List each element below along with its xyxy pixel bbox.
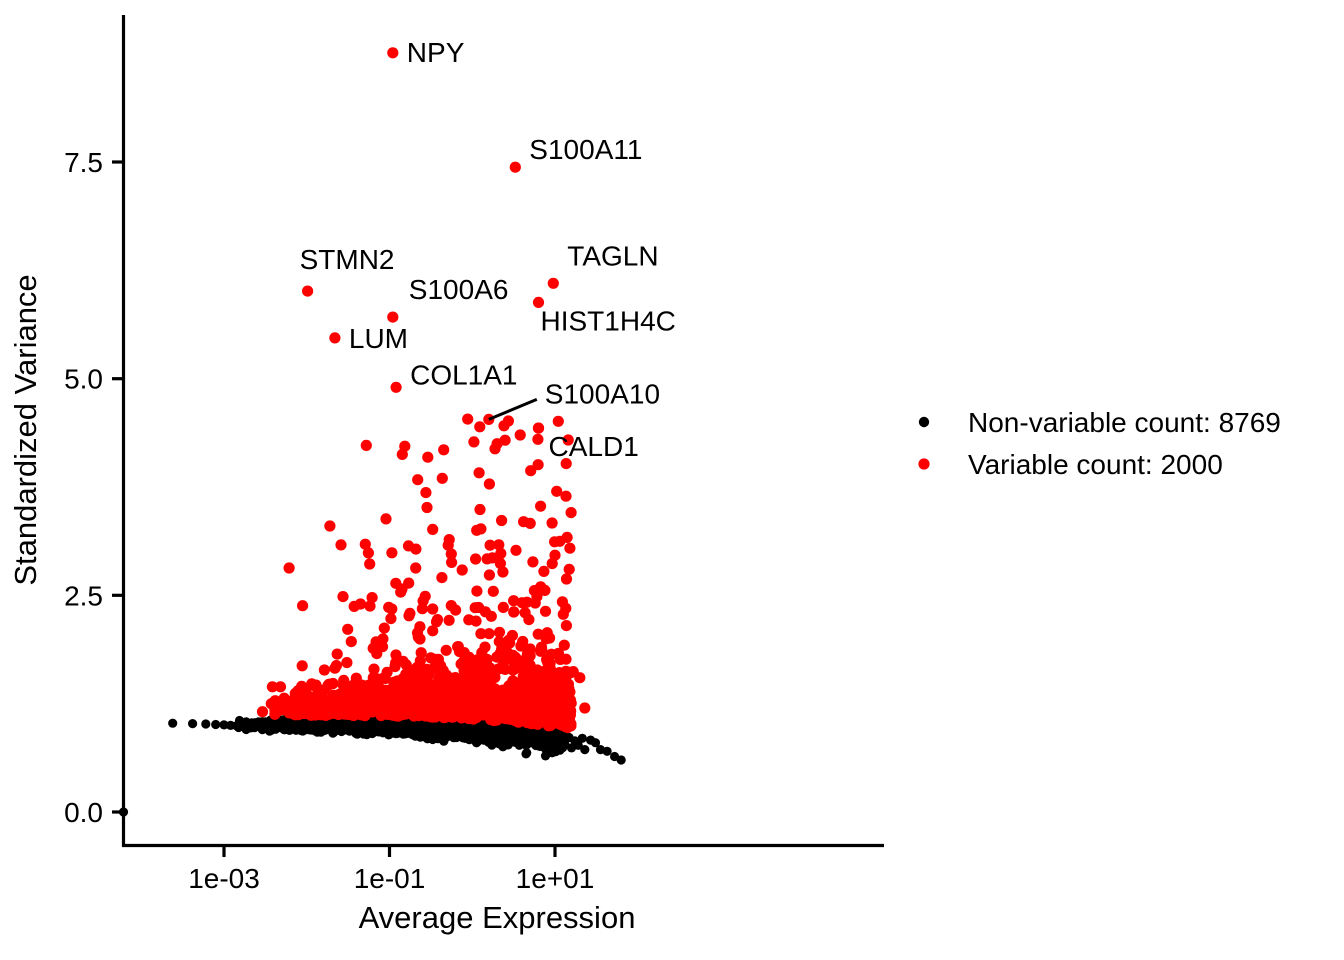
- scatter-point: [474, 421, 485, 432]
- scatter-point: [414, 633, 425, 644]
- gene-label-lum: LUM: [349, 323, 408, 354]
- scatter-point: [441, 670, 452, 681]
- scatter-point: [415, 687, 426, 698]
- scatter-point: [503, 415, 514, 426]
- scatter-point: [297, 600, 308, 611]
- scatter-point: [365, 721, 374, 730]
- scatter-point: [257, 706, 268, 717]
- scatter-point-col1a1: [391, 382, 402, 393]
- scatter-point: [474, 707, 485, 718]
- scatter-point: [396, 583, 407, 594]
- scatter-point: [545, 668, 556, 679]
- scatter-point: [579, 702, 590, 713]
- scatter-point-lum: [329, 332, 340, 343]
- scatter-point: [532, 434, 543, 445]
- y-tick-label: 2.5: [64, 580, 103, 611]
- scatter-point: [557, 596, 568, 607]
- scatter-point: [463, 656, 474, 667]
- scatter-point: [549, 550, 560, 561]
- scatter-point: [294, 723, 303, 732]
- scatter-point: [410, 544, 421, 555]
- scatter-point: [485, 665, 496, 676]
- scatter-point: [346, 636, 357, 647]
- plot-background: [0, 0, 1344, 960]
- scatter-point: [268, 721, 277, 730]
- scatter-point: [400, 669, 411, 680]
- scatter-point: [319, 664, 330, 675]
- scatter-point: [493, 539, 504, 550]
- scatter-point: [404, 608, 415, 619]
- scatter-point: [507, 664, 518, 675]
- scatter-point: [498, 602, 509, 613]
- scatter-point-stmn2: [302, 286, 313, 297]
- scatter-point: [540, 606, 551, 617]
- scatter-point: [525, 465, 536, 476]
- scatter-point: [473, 675, 484, 686]
- scatter-point: [342, 624, 353, 635]
- scatter-point: [494, 627, 505, 638]
- scatter-point: [553, 416, 564, 427]
- x-axis-title: Average Expression: [359, 900, 636, 935]
- scatter-point: [338, 680, 349, 691]
- scatter-point: [454, 646, 465, 657]
- gene-label-tagln: TAGLN: [567, 240, 658, 271]
- scatter-point-npy: [387, 47, 398, 58]
- scatter-point: [471, 586, 482, 597]
- scatter-point: [422, 729, 431, 738]
- y-tick-label: 5.0: [64, 364, 103, 395]
- scatter-point: [532, 686, 543, 697]
- scatter-point: [391, 708, 402, 719]
- scatter-point: [436, 572, 447, 583]
- scatter-point: [527, 556, 538, 567]
- scatter-point: [484, 628, 495, 639]
- scatter-point: [457, 564, 468, 575]
- scatter-point: [470, 616, 481, 627]
- scatter-point: [368, 643, 379, 654]
- scatter-point: [267, 681, 278, 692]
- scatter-point: [168, 719, 177, 728]
- scatter-point: [561, 620, 572, 631]
- scatter-point: [542, 657, 553, 668]
- scatter-point: [201, 719, 210, 728]
- scatter-point: [535, 581, 546, 592]
- scatter-point: [484, 569, 495, 580]
- scatter-point: [446, 682, 457, 693]
- gene-label-cald1: CALD1: [549, 431, 639, 462]
- gene-label-col1a1: COL1A1: [410, 359, 517, 390]
- scatter-point: [561, 573, 572, 584]
- scatter-point: [548, 700, 559, 711]
- scatter-point: [380, 513, 391, 524]
- scatter-point: [266, 698, 277, 709]
- scatter-point: [360, 539, 371, 550]
- scatter-point: [520, 607, 531, 618]
- scatter-point: [477, 653, 488, 664]
- scatter-point: [367, 592, 378, 603]
- scatter-point: [474, 504, 485, 515]
- scatter-point: [446, 557, 457, 568]
- scatter-point: [211, 720, 220, 729]
- scatter-point: [520, 737, 529, 746]
- scatter-point: [324, 679, 335, 690]
- scatter-point-s100a6: [387, 312, 398, 323]
- scatter-point: [509, 683, 520, 694]
- scatter-point: [535, 501, 546, 512]
- x-tick-label: 1e-03: [188, 863, 260, 894]
- gene-label-hist1h4c: HIST1H4C: [541, 305, 676, 336]
- scatter-point-s100a11: [510, 162, 521, 173]
- scatter-point: [474, 467, 485, 478]
- gene-label-s100a11: S100A11: [529, 134, 642, 165]
- scatter-point: [477, 686, 488, 697]
- scatter-point: [458, 702, 469, 713]
- scatter-point: [363, 685, 374, 696]
- scatter-point: [250, 719, 259, 728]
- legend-marker-variable: [918, 458, 929, 469]
- scatter-point: [366, 706, 377, 717]
- scatter-point: [432, 614, 443, 625]
- x-tick-label: 1e-01: [354, 863, 426, 894]
- legend-label-variable: Variable count: 2000: [968, 449, 1223, 480]
- scatter-point: [525, 518, 536, 529]
- scatter-point: [551, 486, 562, 497]
- scatter-point: [280, 725, 289, 734]
- scatter-point: [385, 613, 396, 624]
- scatter-point: [542, 719, 553, 730]
- scatter-point: [402, 721, 411, 730]
- scatter-point: [399, 441, 410, 452]
- scatter-point: [234, 723, 243, 732]
- scatter-point: [335, 539, 346, 550]
- scatter-point: [617, 755, 626, 764]
- scatter-point: [386, 547, 397, 558]
- scatter-point: [580, 745, 589, 754]
- scatter-point: [421, 502, 432, 513]
- scatter-point: [315, 706, 326, 717]
- scatter-point: [449, 704, 460, 715]
- scatter-point: [427, 625, 438, 636]
- scatter-point: [411, 732, 420, 741]
- scatter-point: [381, 685, 392, 696]
- scatter-point: [332, 649, 343, 660]
- scatter-point: [470, 553, 481, 564]
- scatter-point: [389, 661, 400, 672]
- scatter-point: [471, 525, 482, 536]
- scatter-point: [538, 566, 549, 577]
- scatter-point: [377, 721, 386, 730]
- scatter-point: [410, 562, 421, 573]
- gene-label-stmn2: STMN2: [300, 244, 395, 275]
- scatter-point: [444, 615, 455, 626]
- variable-feature-plot: 0.02.55.07.5 1e-031e-011e+01 Average Exp…: [0, 0, 1344, 960]
- scatter-point: [329, 663, 340, 674]
- scatter-point: [284, 562, 295, 573]
- scatter-point: [510, 545, 521, 556]
- scatter-point: [555, 712, 566, 723]
- scatter-point-cald1: [533, 423, 544, 434]
- scatter-point-tagln: [548, 278, 559, 289]
- scatter-point: [443, 540, 454, 551]
- scatter-point: [492, 438, 503, 449]
- scatter-point: [486, 611, 497, 622]
- scatter-point: [493, 732, 502, 741]
- scatter-point: [578, 734, 587, 743]
- scatter-point: [348, 710, 359, 721]
- scatter-point: [479, 642, 490, 653]
- scatter-point: [422, 452, 433, 463]
- scatter-point: [463, 712, 474, 723]
- scatter-point: [390, 649, 401, 660]
- scatter-point: [389, 723, 398, 732]
- scatter-point: [416, 647, 427, 658]
- scatter-point: [568, 666, 579, 677]
- scatter-point: [547, 517, 558, 528]
- legend-marker-nonvariable: [919, 417, 929, 427]
- scatter-point: [317, 691, 328, 702]
- scatter-point: [297, 660, 308, 671]
- scatter-point: [522, 748, 531, 757]
- y-axis-title: Standardized Variance: [8, 274, 43, 585]
- gene-label-npy: NPY: [407, 37, 465, 68]
- scatter-point: [302, 701, 313, 712]
- scatter-point: [417, 672, 428, 683]
- scatter-point: [348, 684, 359, 695]
- scatter-point: [379, 623, 390, 634]
- scatter-point: [438, 444, 449, 455]
- scatter-point: [482, 553, 493, 564]
- scatter-point: [383, 602, 394, 613]
- scatter-point: [520, 706, 531, 717]
- scatter-point: [420, 487, 431, 498]
- scatter-point: [525, 643, 536, 654]
- scatter-point: [276, 702, 287, 713]
- scatter-point: [603, 747, 612, 756]
- gene-label-s100a6: S100A6: [409, 274, 509, 305]
- scatter-point: [443, 722, 452, 731]
- scatter-point: [484, 478, 495, 489]
- scatter-point: [462, 414, 473, 425]
- scatter-point: [525, 668, 536, 679]
- scatter-point: [496, 515, 507, 526]
- scatter-point: [310, 680, 321, 691]
- scatter-point: [368, 696, 379, 707]
- scatter-point: [279, 693, 290, 704]
- scatter-point: [488, 586, 499, 597]
- scatter-point: [559, 685, 570, 696]
- scatter-point: [460, 669, 471, 680]
- scatter-point: [507, 650, 518, 661]
- scatter-point: [355, 598, 366, 609]
- scatter-point: [566, 507, 577, 518]
- scatter-point: [470, 602, 481, 613]
- scatter-point: [465, 684, 476, 695]
- scatter-point: [446, 600, 457, 611]
- scatter-point: [564, 543, 575, 554]
- scatter-point: [377, 641, 388, 652]
- legend-label-nonvariable: Non-variable count: 8769: [968, 407, 1281, 438]
- scatter-point: [337, 591, 348, 602]
- scatter-point: [468, 436, 479, 447]
- scatter-point: [541, 633, 552, 644]
- scatter-point: [441, 645, 452, 656]
- scatter-point: [361, 440, 372, 451]
- scatter-point: [364, 558, 375, 569]
- scatter-point: [517, 597, 528, 608]
- scatter-point: [553, 648, 564, 659]
- scatter-point: [564, 564, 575, 575]
- plot-canvas: 0.02.55.07.5 1e-031e-011e+01 Average Exp…: [0, 0, 1344, 960]
- scatter-point: [495, 648, 506, 659]
- scatter-point: [427, 603, 438, 614]
- gene-label-s100a10: S100A10: [545, 378, 660, 409]
- scatter-point: [504, 637, 515, 648]
- y-tick-label: 0.0: [64, 797, 103, 828]
- scatter-point: [412, 474, 423, 485]
- scatter-point: [188, 719, 197, 728]
- scatter-point: [515, 429, 526, 440]
- scatter-point: [405, 695, 416, 706]
- scatter-point: [509, 736, 518, 745]
- scatter-point: [437, 473, 448, 484]
- scatter-point: [562, 532, 573, 543]
- scatter-point: [418, 595, 429, 606]
- scatter-point: [497, 566, 508, 577]
- scatter-point: [508, 606, 519, 617]
- x-tick-label: 1e+01: [516, 863, 595, 894]
- scatter-point: [427, 524, 438, 535]
- scatter-point: [497, 705, 508, 716]
- scatter-point: [341, 657, 352, 668]
- scatter-point: [332, 694, 343, 705]
- scatter-point: [434, 703, 445, 714]
- scatter-point: [430, 654, 441, 665]
- y-tick-label: 7.5: [64, 147, 103, 178]
- scatter-point: [324, 520, 335, 531]
